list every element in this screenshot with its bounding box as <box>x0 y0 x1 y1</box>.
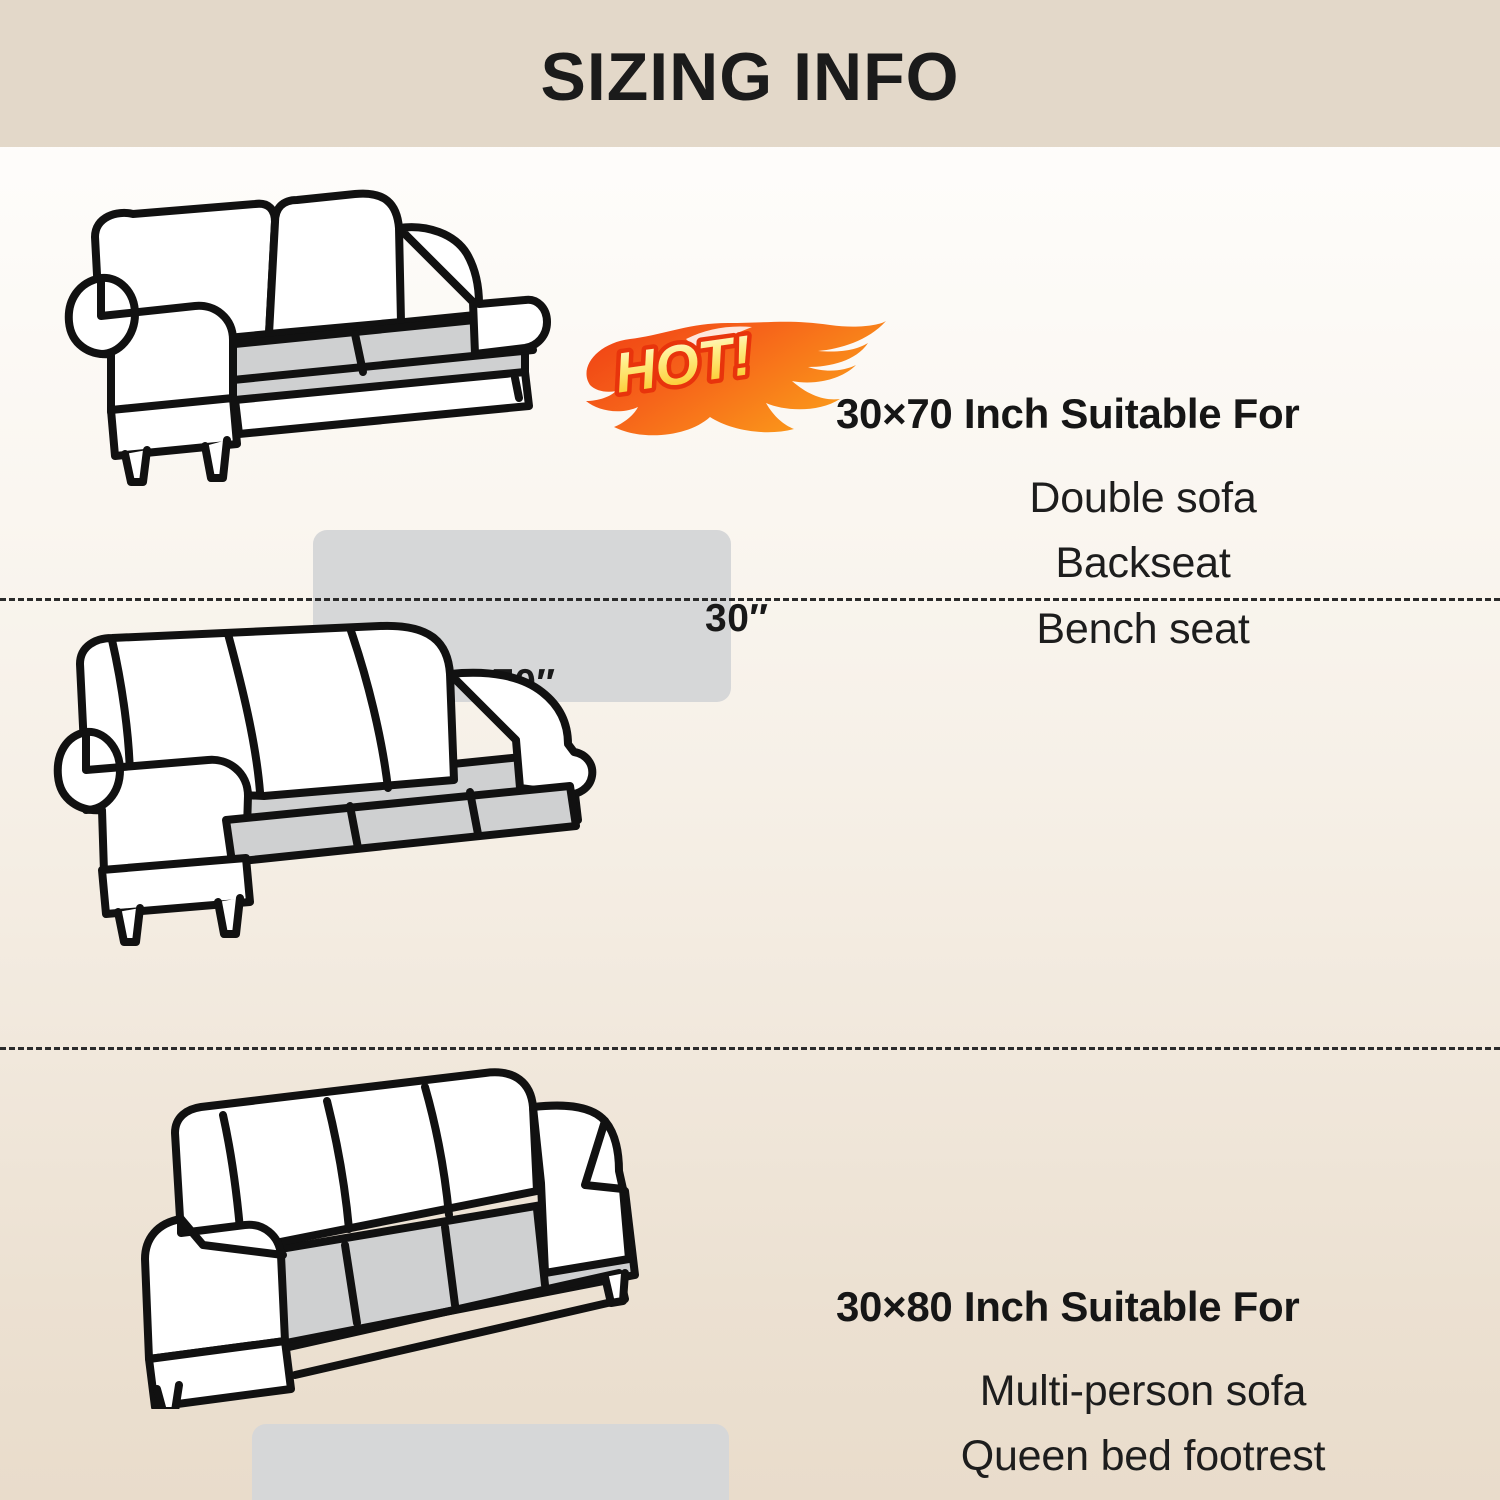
list-item: Backseat <box>830 531 1456 596</box>
size-section-30x70: HOT! HOT! 70″ 30″ 30×70 Inch Suitable Fo… <box>0 147 1500 598</box>
four-seat-square-arm-sofa-icon <box>45 1059 665 1409</box>
two-seat-rolled-arm-sofa-icon <box>55 182 565 512</box>
size-section-30x80: 80″ 30″ 30×80 Inch Suitable For Multi-pe… <box>0 600 1500 1047</box>
size-heading-30x70: 30×70 Inch Suitable For <box>830 390 1470 438</box>
illustration-30x80 <box>0 600 830 1047</box>
page-title: SIZING INFO <box>541 37 960 111</box>
size-section-30x90: 90″ 30″ 30×90 Inch Suitable For Multi-pe… <box>0 1049 1500 1500</box>
three-seat-curved-back-sofa-icon <box>50 620 610 950</box>
illustration-30x90 <box>0 1049 830 1500</box>
header-band: SIZING INFO <box>0 0 1500 147</box>
sizing-info-infographic: SIZING INFO <box>0 0 1500 1500</box>
list-item: Double sofa <box>830 466 1456 531</box>
